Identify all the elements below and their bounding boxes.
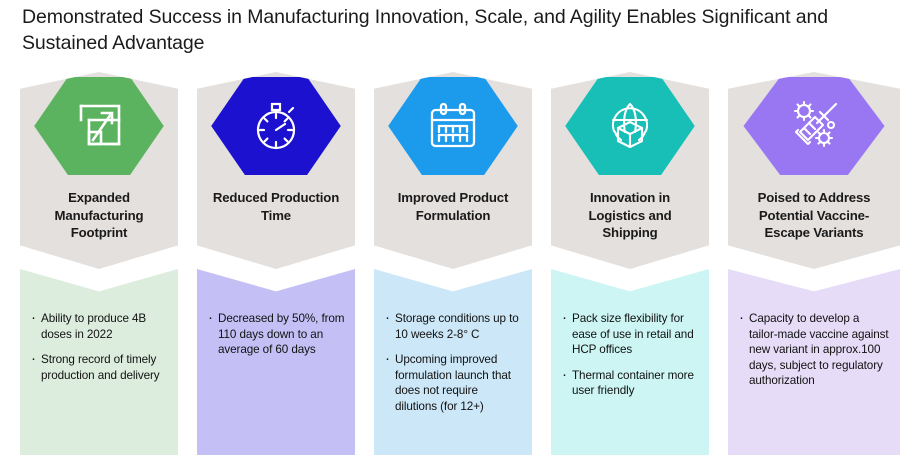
bullet-item: Thermal container more user friendly: [561, 368, 699, 399]
bullet-item: Pack size flexibility for ease of use in…: [561, 311, 699, 358]
hexagon-badge-improved-product-formulation: [388, 75, 518, 177]
card-top-reduced-production-time: Reduced Production Time: [197, 72, 355, 269]
card-heading-poised-to-address-potential-vaccine-escape-variants: Poised to Address Potential Vaccine-Esca…: [738, 189, 889, 242]
card-top-expanded-manufacturing-footprint: Expanded Manufacturing Footprint: [20, 72, 178, 269]
card-top-innovation-in-logistics-and-shipping: Innovation in Logistics and Shipping: [551, 72, 709, 269]
hexagon-badge-reduced-production-time: [211, 75, 341, 177]
card-heading-innovation-in-logistics-and-shipping: Innovation in Logistics and Shipping: [560, 189, 699, 242]
bullet-list-reduced-production-time: Decreased by 50%, from 110 days down to …: [207, 311, 345, 358]
hexagon-badge-expanded-manufacturing-footprint: [34, 75, 164, 177]
feature-column-innovation-in-logistics-and-shipping[interactable]: Innovation in Logistics and ShippingPack…: [551, 72, 709, 458]
bullet-list-poised-to-address-potential-vaccine-escape-variants: Capacity to develop a tailor-made vaccin…: [738, 311, 890, 389]
globe-package-icon: [601, 98, 659, 154]
card-top-poised-to-address-potential-vaccine-escape-variants: Poised to Address Potential Vaccine-Esca…: [728, 72, 900, 269]
syringe-virus-icon: [784, 98, 844, 154]
bullet-item: Strong record of timely production and d…: [30, 352, 168, 383]
bullet-item: Ability to produce 4B doses in 2022: [30, 311, 168, 342]
feature-column-expanded-manufacturing-footprint[interactable]: Expanded Manufacturing FootprintAbility …: [20, 72, 178, 458]
card-body-expanded-manufacturing-footprint: Ability to produce 4B doses in 2022Stron…: [20, 269, 178, 455]
card-heading-expanded-manufacturing-footprint: Expanded Manufacturing Footprint: [29, 189, 168, 242]
bullet-list-innovation-in-logistics-and-shipping: Pack size flexibility for ease of use in…: [561, 311, 699, 399]
expand-arrow-icon: [71, 98, 127, 154]
feature-column-improved-product-formulation[interactable]: Improved Product FormulationStorage cond…: [374, 72, 532, 458]
bullet-list-expanded-manufacturing-footprint: Ability to produce 4B doses in 2022Stron…: [30, 311, 168, 383]
card-body-poised-to-address-potential-vaccine-escape-variants: Capacity to develop a tailor-made vaccin…: [728, 269, 900, 455]
page-title: Demonstrated Success in Manufacturing In…: [22, 4, 882, 56]
bullet-item: Capacity to develop a tailor-made vaccin…: [738, 311, 890, 389]
card-heading-improved-product-formulation: Improved Product Formulation: [383, 189, 522, 224]
stopwatch-icon: [247, 97, 305, 155]
bullet-list-improved-product-formulation: Storage conditions up to 10 weeks 2-8° C…: [384, 311, 522, 415]
calendar-icon: [424, 99, 482, 153]
card-heading-reduced-production-time: Reduced Production Time: [206, 189, 345, 224]
bullet-item: Decreased by 50%, from 110 days down to …: [207, 311, 345, 358]
card-body-improved-product-formulation: Storage conditions up to 10 weeks 2-8° C…: [374, 269, 532, 455]
bullet-item: Storage conditions up to 10 weeks 2-8° C: [384, 311, 522, 342]
card-body-innovation-in-logistics-and-shipping: Pack size flexibility for ease of use in…: [551, 269, 709, 455]
feature-column-reduced-production-time[interactable]: Reduced Production TimeDecreased by 50%,…: [197, 72, 355, 458]
card-top-improved-product-formulation: Improved Product Formulation: [374, 72, 532, 269]
hexagon-badge-poised-to-address-potential-vaccine-escape-variants: [743, 75, 884, 177]
feature-column-poised-to-address-potential-vaccine-escape-variants[interactable]: Poised to Address Potential Vaccine-Esca…: [728, 72, 900, 458]
hexagon-badge-innovation-in-logistics-and-shipping: [565, 75, 695, 177]
bullet-item: Upcoming improved formulation launch tha…: [384, 352, 522, 414]
feature-columns: Expanded Manufacturing FootprintAbility …: [0, 72, 923, 458]
card-body-reduced-production-time: Decreased by 50%, from 110 days down to …: [197, 269, 355, 455]
